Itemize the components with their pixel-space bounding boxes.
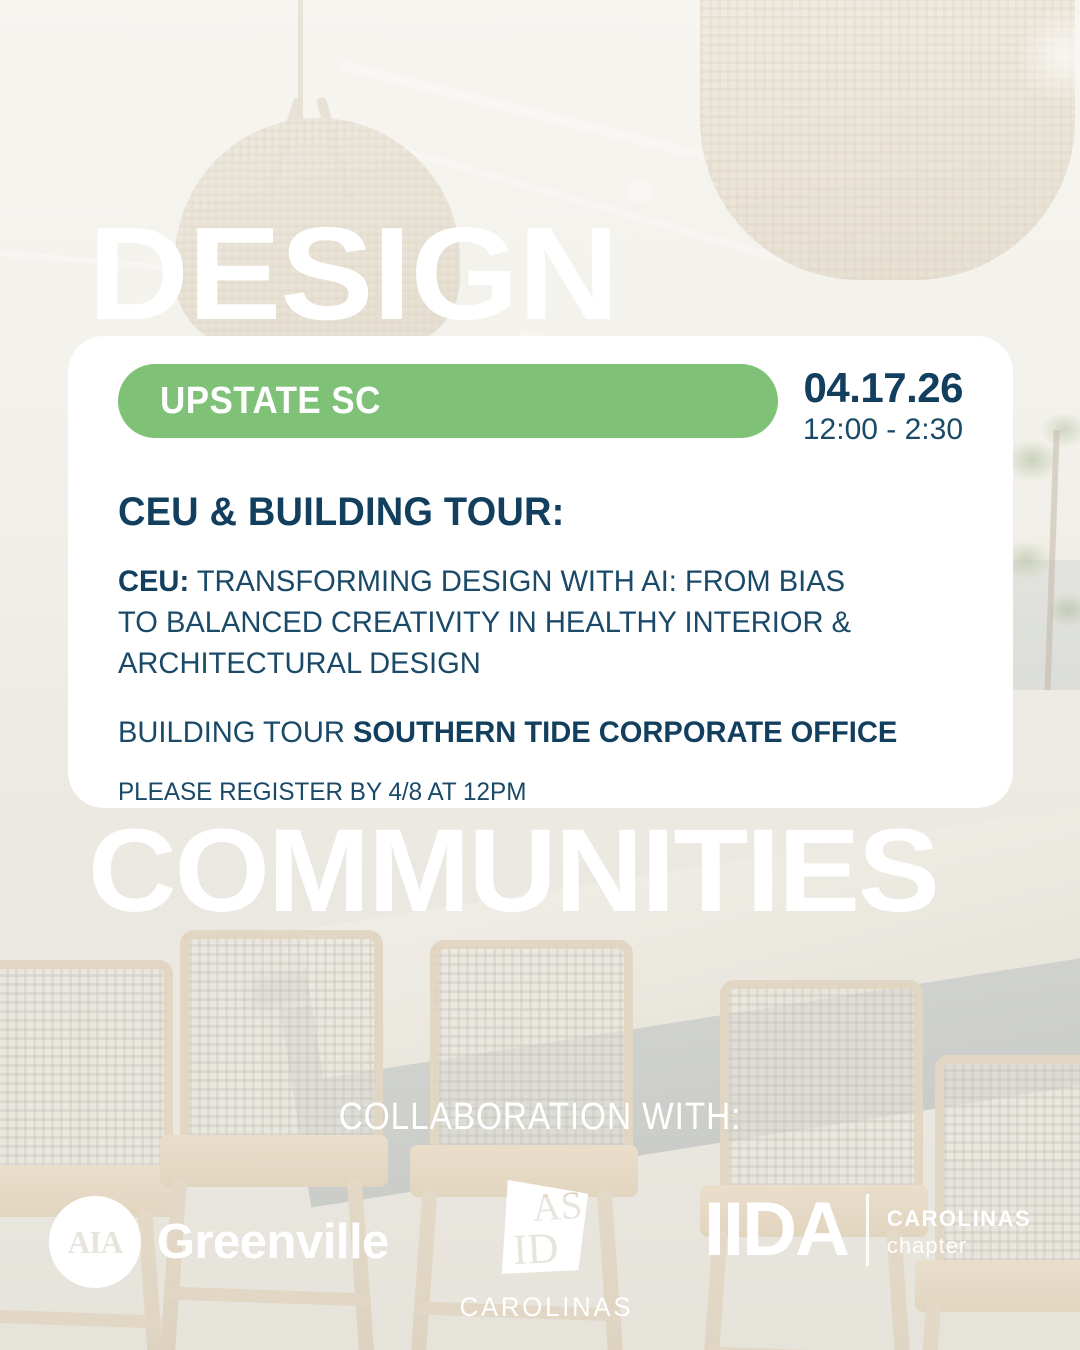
iida-chapter-word: chapter	[887, 1232, 1031, 1260]
registration-note: PLEASE REGISTER BY 4/8 AT 12PM	[118, 778, 943, 807]
logo-asid-carolinas: AS ID CAROLINAS	[455, 1168, 638, 1323]
building-tour-label: BUILDING TOUR	[118, 716, 345, 749]
building-tour-line: BUILDING TOUR SOUTHERN TIDE CORPORATE OF…	[118, 716, 943, 750]
headline-design: DESIGN	[88, 208, 618, 340]
chapter-pill-label: UPSTATE SC	[160, 380, 381, 423]
logo-aia-greenville: AIA Greenville	[49, 1168, 389, 1288]
headline-communities: COMMUNITIES	[88, 812, 938, 930]
ceu-label: CEU:	[118, 565, 189, 598]
iida-chapter-region: CAROLINAS	[887, 1205, 1031, 1233]
event-poster: DESIGN UPSTATE SC 04.17.26 12:00 - 2:30 …	[0, 0, 1080, 1350]
event-info-card: UPSTATE SC 04.17.26 12:00 - 2:30 CEU & B…	[68, 336, 1013, 808]
aia-circle-icon: AIA	[49, 1196, 141, 1288]
aia-wordmark: Greenville	[157, 1214, 389, 1270]
building-tour-venue: SOUTHERN TIDE CORPORATE OFFICE	[353, 716, 897, 749]
event-datetime: 04.17.26 12:00 - 2:30	[803, 364, 969, 448]
iida-divider	[866, 1194, 869, 1266]
ceu-body: TRANSFORMING DESIGN WITH AI: FROM BIAS T…	[118, 565, 851, 680]
ceu-description: CEU: TRANSFORMING DESIGN WITH AI: FROM B…	[118, 561, 884, 684]
chapter-pill: UPSTATE SC	[118, 364, 778, 438]
event-date: 04.17.26	[803, 366, 963, 410]
logo-iida-carolinas: IIDA CAROLINAS chapter	[704, 1168, 1031, 1266]
event-title: CEU & BUILDING TOUR:	[118, 490, 926, 535]
card-header-row: UPSTATE SC 04.17.26 12:00 - 2:30	[118, 364, 969, 448]
iida-chapter-block: CAROLINAS chapter	[887, 1201, 1031, 1260]
partner-logo-row: AIA Greenville AS ID CAROLINAS	[0, 1168, 1080, 1323]
iida-wordmark: IIDA	[704, 1196, 848, 1264]
collaboration-label: COLLABORATION WITH:	[65, 1096, 1015, 1139]
asid-wordmark: CAROLINAS	[459, 1292, 633, 1323]
asid-shape-icon: AS ID	[492, 1168, 600, 1284]
event-time: 12:00 - 2:30	[803, 412, 963, 448]
